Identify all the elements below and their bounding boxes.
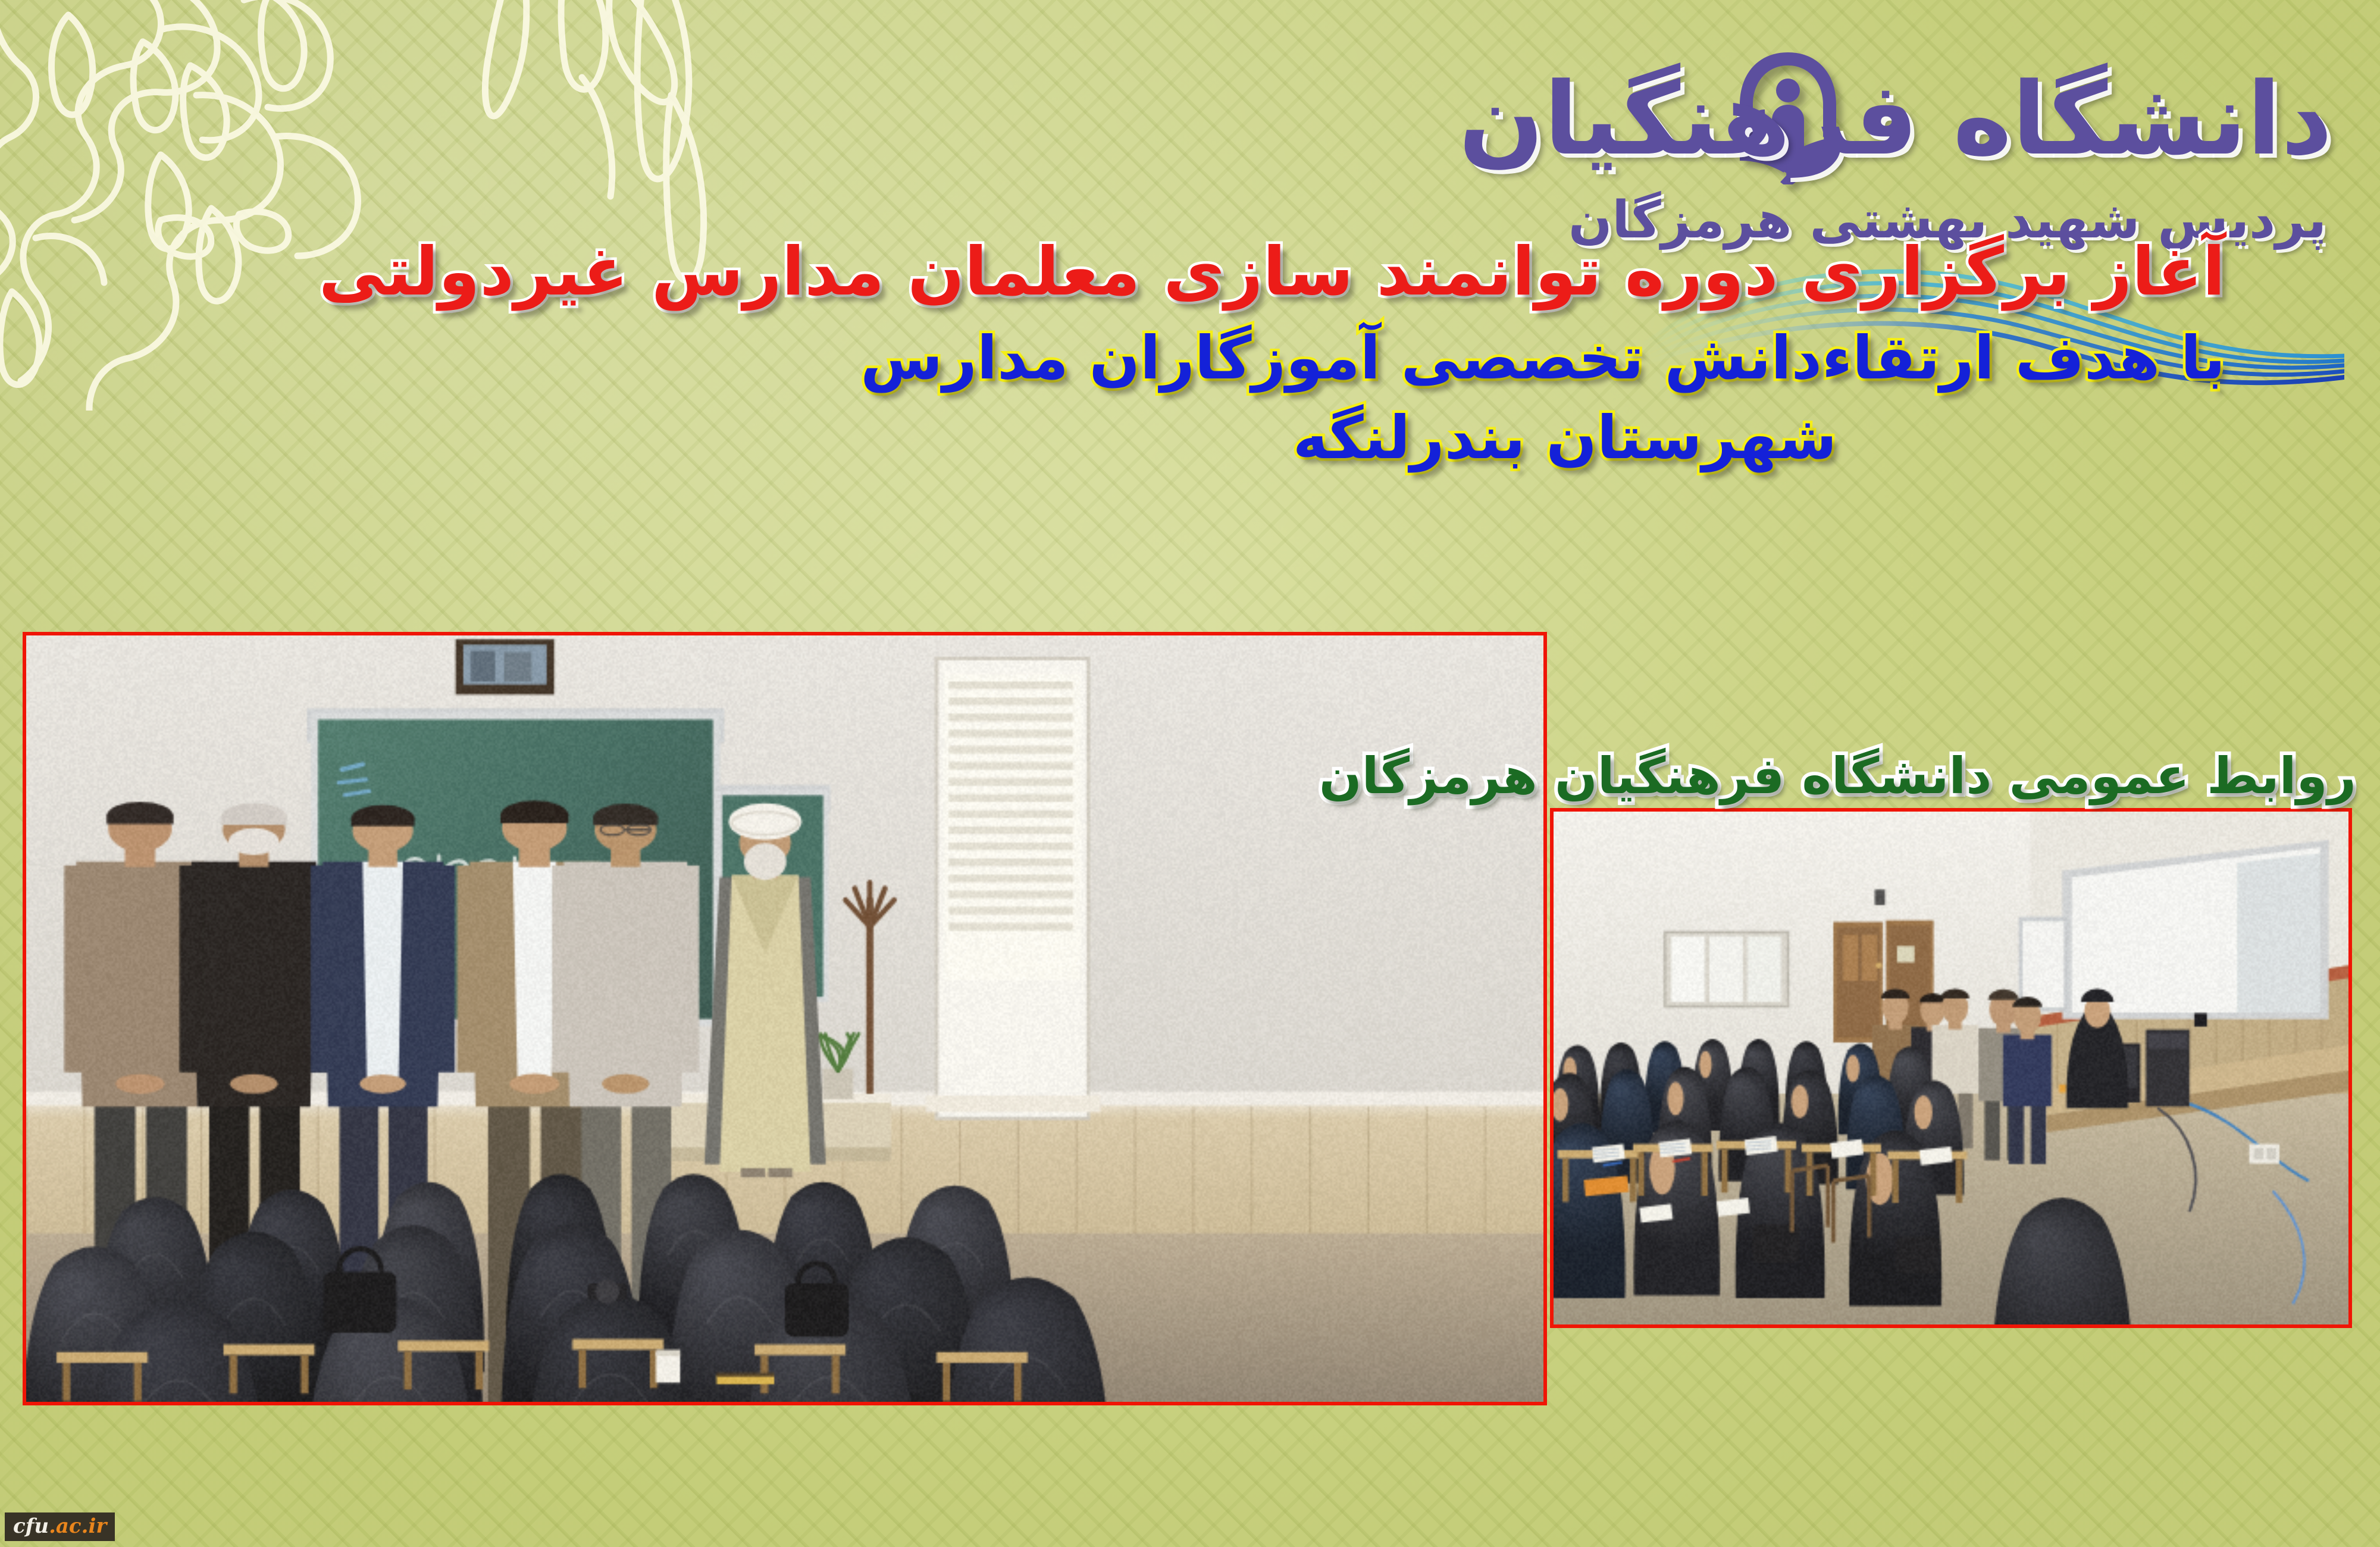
- headline-line-1: آغاز برگزاری دوره توانمند سازی معلمان مد…: [904, 235, 2225, 309]
- watermark-part-two: .ac.ir: [49, 1514, 107, 1538]
- main-event-photo: [23, 632, 1547, 1405]
- headline-line-3: شهرستان بندرلنگه: [904, 405, 2225, 471]
- watermark-part-one: cfu: [13, 1514, 49, 1538]
- university-name: دانشگاه فرهنگیان: [1844, 65, 2332, 173]
- main-photo-canvas: [26, 635, 1543, 1402]
- secondary-event-photo: [1550, 808, 2352, 1328]
- public-relations-caption: روابط عمومی دانشگاه فرهنگیان هرمزگان: [1493, 747, 2356, 805]
- secondary-photo-canvas: [1554, 812, 2348, 1324]
- site-watermark: cfu.ac.ir: [5, 1512, 115, 1541]
- headline-line-2: با هدف ارتقاء‌دانش تخصصی آموزگاران مدارس: [904, 325, 2225, 392]
- poster-canvas: دانشگاه فرهنگیان پردیس شهید بهشتی هرمزگا…: [0, 0, 2380, 1547]
- headline-block: آغاز برگزاری دوره توانمند سازی معلمان مد…: [904, 235, 2225, 471]
